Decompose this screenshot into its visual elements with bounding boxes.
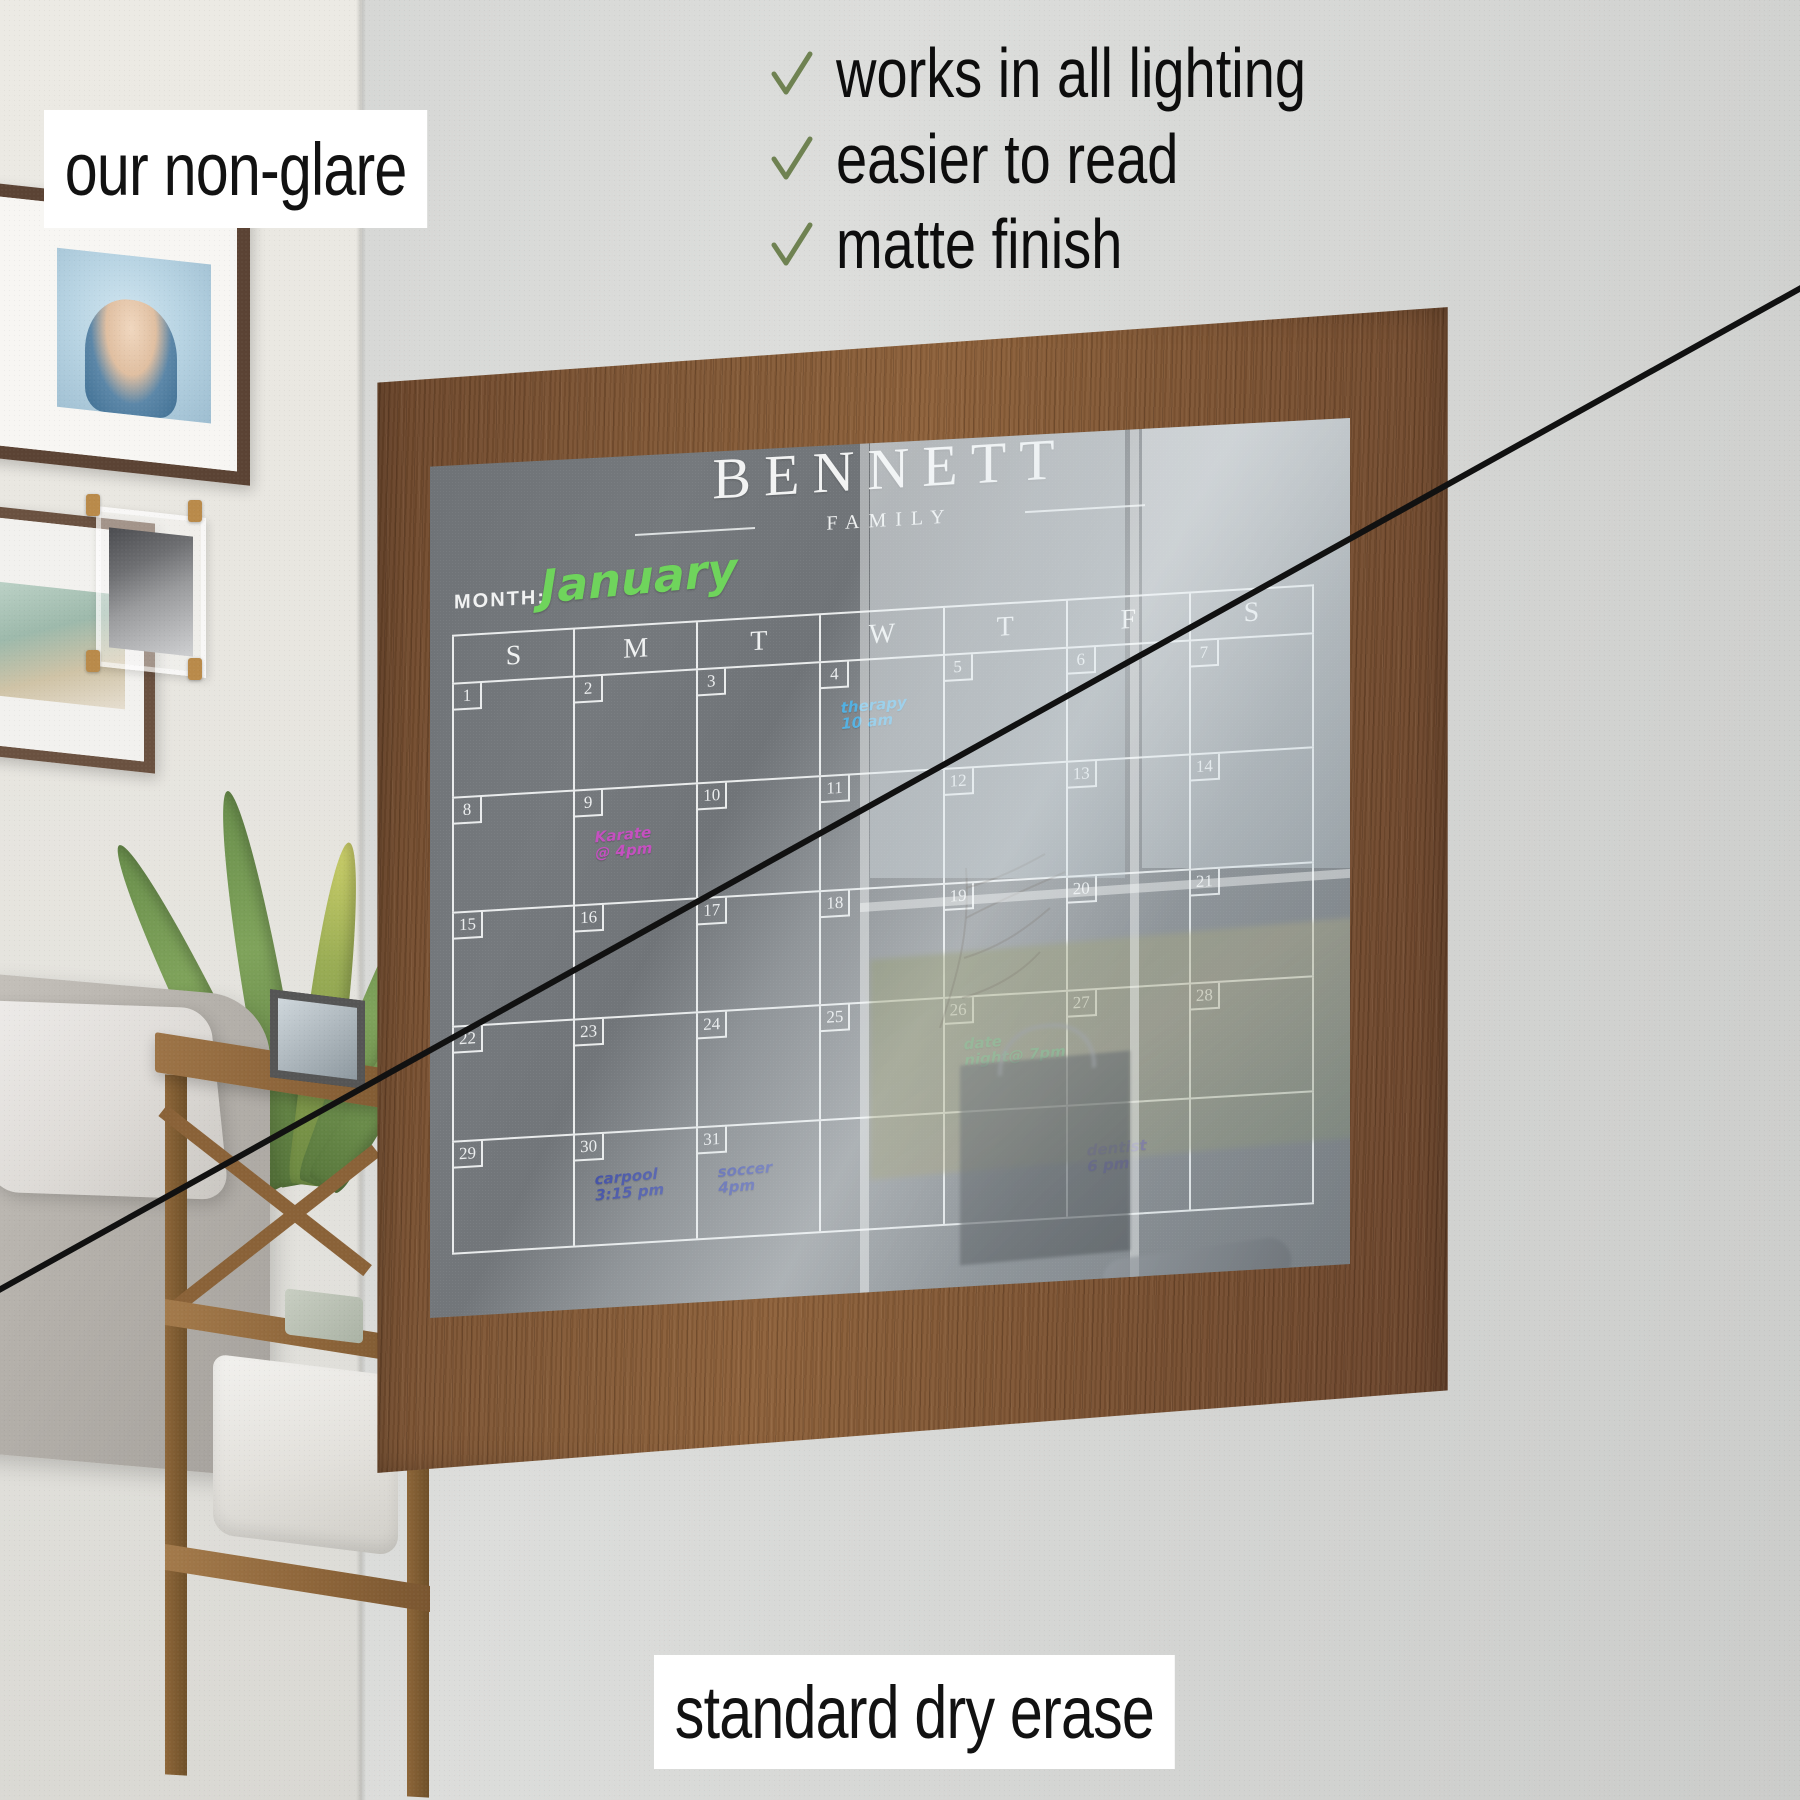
calendar-day-cell[interactable]: 12 <box>945 763 1068 883</box>
calendar-day-cell[interactable]: 7 <box>1191 634 1314 754</box>
day-number: 3 <box>698 669 726 697</box>
day-number: 16 <box>575 905 604 933</box>
month-value-handwritten[interactable]: January <box>539 542 738 614</box>
day-number: 9 <box>575 790 603 818</box>
table-photo-frame <box>270 989 365 1089</box>
calendar-day-cell[interactable]: dentist 6 pm <box>1068 1099 1191 1217</box>
calendar-day-cell[interactable]: 16 <box>575 899 698 1019</box>
day-number: 13 <box>1068 761 1097 789</box>
handwritten-event-note[interactable]: dentist 6 pm <box>1087 1138 1148 1175</box>
handwritten-event-note[interactable]: date night@ 7pm <box>963 1028 1065 1069</box>
calendar-day-cell[interactable]: 5 <box>945 649 1068 769</box>
check-icon <box>770 48 814 100</box>
frame-standoff-icon <box>188 500 202 522</box>
feature-bullet: easier to read <box>770 122 1780 198</box>
calendar-day-cell[interactable]: 24 <box>698 1006 821 1126</box>
handwritten-event-note[interactable]: carpool 3:15 pm <box>594 1166 664 1204</box>
photo-image <box>57 248 210 424</box>
table-box <box>285 1288 363 1344</box>
day-number: 14 <box>1191 754 1220 782</box>
day-number: 27 <box>1068 990 1097 1018</box>
day-number: 18 <box>821 890 850 918</box>
calendar-day-cell[interactable]: 25 <box>821 999 944 1119</box>
standard-dry-erase-banner: standard dry erase <box>654 1655 1175 1769</box>
day-number: 15 <box>454 912 483 940</box>
calendar-day-cell[interactable] <box>1191 1092 1314 1210</box>
feature-bullet: works in all lighting <box>770 36 1780 112</box>
non-glare-label: our non-glare <box>65 127 407 212</box>
day-number: 26 <box>945 997 974 1025</box>
dry-erase-surface[interactable]: BENNETT FAMILY MONTH: January SMTWTFS 12… <box>430 418 1350 1318</box>
day-number: 19 <box>945 883 974 911</box>
day-number: 21 <box>1191 869 1220 897</box>
calendar-day-cell[interactable]: 20 <box>1068 870 1191 990</box>
day-number: 6 <box>1068 647 1096 675</box>
day-header-6: S <box>1191 586 1314 639</box>
calendar-day-cell[interactable]: 14 <box>1191 749 1314 869</box>
calendar-day-cell[interactable]: 9Karate @ 4pm <box>575 785 698 905</box>
feature-bullet-label: works in all lighting <box>836 36 1306 112</box>
calendar-day-cell[interactable] <box>945 1106 1068 1224</box>
calendar-day-cell[interactable]: 31soccer 4pm <box>698 1121 821 1239</box>
day-number: 22 <box>454 1026 483 1054</box>
framed-calendar-board[interactable]: BENNETT FAMILY MONTH: January SMTWTFS 12… <box>372 300 1452 1480</box>
calendar-day-cell[interactable]: 15 <box>452 906 575 1026</box>
calendar-day-cell[interactable]: 6 <box>1068 641 1191 761</box>
day-number: 12 <box>945 769 974 797</box>
acrylic-photo-frame-3 <box>96 506 206 678</box>
day-number: 23 <box>575 1019 604 1047</box>
day-number: 11 <box>821 776 849 804</box>
month-label: MONTH: <box>454 586 546 614</box>
calendar-weeks[interactable]: 1234therapy 10 am56789Karate @ 4pm101112… <box>452 632 1314 1254</box>
calendar-day-cell[interactable]: 21 <box>1191 863 1314 983</box>
calendar-day-cell[interactable]: 27 <box>1068 985 1191 1105</box>
standard-dry-erase-label: standard dry erase <box>675 1670 1154 1755</box>
day-number: 31 <box>698 1126 727 1154</box>
day-number: 20 <box>1068 876 1097 904</box>
calendar-day-cell[interactable]: 17 <box>698 892 821 1012</box>
day-number: 29 <box>454 1140 483 1168</box>
day-number: 17 <box>698 897 727 925</box>
check-icon <box>770 133 814 185</box>
day-number: 1 <box>454 683 482 711</box>
day-number: 24 <box>698 1012 727 1040</box>
calendar-day-cell[interactable]: 10 <box>698 777 821 897</box>
day-number: 30 <box>575 1133 604 1161</box>
calendar-day-cell[interactable]: 4therapy 10 am <box>821 656 944 776</box>
calendar-day-cell[interactable]: 1 <box>452 678 575 798</box>
calendar-day-cell[interactable]: 22 <box>452 1021 575 1141</box>
table-shelf <box>165 1544 430 1612</box>
day-header-5: F <box>1068 593 1191 646</box>
calendar-day-cell[interactable]: 28 <box>1191 977 1314 1097</box>
calendar-day-cell[interactable]: 11 <box>821 770 944 890</box>
promo-image: BENNETT FAMILY MONTH: January SMTWTFS 12… <box>0 0 1800 1800</box>
woven-basket <box>213 1354 398 1557</box>
day-number: 5 <box>945 654 973 682</box>
photo-image <box>109 527 193 656</box>
calendar-day-cell[interactable]: 19 <box>945 877 1068 997</box>
handwritten-event-note[interactable]: therapy 10 am <box>840 695 907 733</box>
calendar-day-cell[interactable]: 29 <box>452 1135 575 1253</box>
calendar-day-cell[interactable]: 3 <box>698 663 821 783</box>
handwritten-event-note[interactable]: soccer 4pm <box>717 1160 773 1197</box>
calendar-day-cell[interactable]: 18 <box>821 885 944 1005</box>
day-number: 2 <box>575 676 603 704</box>
feature-bullet-list: works in all lightingeasier to readmatte… <box>770 36 1780 293</box>
handwritten-event-note[interactable]: Karate @ 4pm <box>594 825 652 862</box>
calendar-day-cell[interactable]: 13 <box>1068 756 1191 876</box>
feature-bullet: matte finish <box>770 207 1780 283</box>
day-header-1: M <box>575 622 698 675</box>
day-number: 4 <box>821 661 849 689</box>
feature-bullet-label: matte finish <box>836 207 1122 283</box>
day-number: 7 <box>1191 640 1219 668</box>
calendar-day-cell[interactable] <box>821 1113 944 1231</box>
frame-standoff-icon <box>86 494 100 516</box>
calendar-day-cell[interactable]: 8 <box>452 792 575 912</box>
day-header-2: T <box>698 615 821 668</box>
calendar-grid[interactable]: SMTWTFS 1234therapy 10 am56789Karate @ 4… <box>452 584 1314 1254</box>
calendar-day-cell[interactable]: 2 <box>575 670 698 790</box>
day-number: 28 <box>1191 983 1220 1011</box>
non-glare-banner: our non-glare <box>44 110 427 228</box>
calendar-print: BENNETT FAMILY MONTH: January SMTWTFS 12… <box>430 418 1350 1318</box>
day-header-0: S <box>452 630 575 683</box>
check-icon <box>770 219 814 271</box>
day-number: 10 <box>698 783 727 811</box>
day-number: 8 <box>454 797 482 825</box>
calendar-day-cell[interactable]: 30carpool 3:15 pm <box>575 1128 698 1246</box>
calendar-day-cell[interactable]: 26date night@ 7pm <box>945 992 1068 1112</box>
frame-standoff-icon <box>86 650 100 672</box>
feature-bullet-label: easier to read <box>836 122 1178 198</box>
day-header-4: T <box>945 601 1068 654</box>
day-number: 25 <box>821 1005 850 1033</box>
calendar-day-cell[interactable]: 23 <box>575 1013 698 1133</box>
day-header-3: W <box>821 608 944 661</box>
